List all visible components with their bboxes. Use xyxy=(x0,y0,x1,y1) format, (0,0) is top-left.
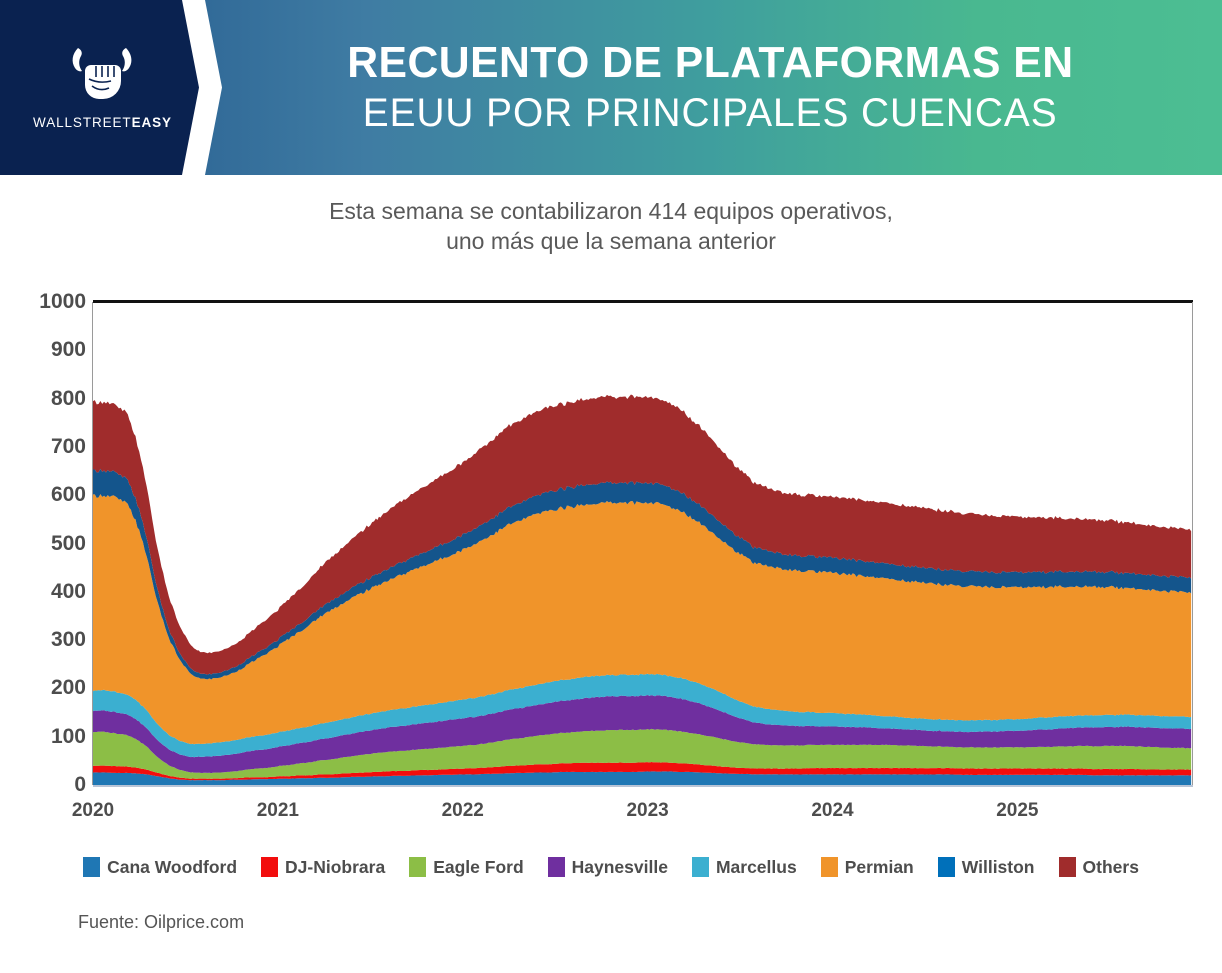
y-axis-tick-700: 700 xyxy=(2,435,86,459)
y-axis-tick-100: 100 xyxy=(2,725,86,749)
x-axis-line xyxy=(93,785,1193,787)
y-axis-tick-800: 800 xyxy=(2,387,86,411)
legend-swatch-icon xyxy=(261,857,278,877)
legend-swatch-icon xyxy=(548,857,565,877)
y-axis-tick-0: 0 xyxy=(2,773,86,797)
y-axis-tick-400: 400 xyxy=(2,580,86,604)
brand-wordmark: WALLSTREETEASY xyxy=(33,115,172,130)
page-title-line2: EEUU POR PRINCIPALES CUENCAS xyxy=(363,91,1058,135)
y-axis-tick-300: 300 xyxy=(2,628,86,652)
stacked-area-chart: 01002003004005006007008009001000 2020202… xyxy=(0,290,1222,850)
brand-wordmark-second: EASY xyxy=(132,115,172,130)
legend-item-eagle-ford[interactable]: Eagle Ford xyxy=(409,857,523,878)
chart-plot-area xyxy=(93,302,1193,785)
header-title-block: RECUENTO DE PLATAFORMAS EN EEUU POR PRIN… xyxy=(240,0,1180,175)
bull-fist-logo-icon xyxy=(65,45,141,107)
x-axis-tick-2020: 2020 xyxy=(72,800,114,822)
legend-item-dj-niobrara[interactable]: DJ-Niobrara xyxy=(261,857,385,878)
legend-swatch-icon xyxy=(83,857,100,877)
chart-subtitle-line1: Esta semana se contabilizaron 414 equipo… xyxy=(0,196,1222,226)
y-axis-tick-500: 500 xyxy=(2,532,86,556)
legend-swatch-icon xyxy=(692,857,709,877)
chart-subtitle-line2: uno más que la semana anterior xyxy=(0,226,1222,256)
y-axis-tick-1000: 1000 xyxy=(2,290,86,314)
chart-legend: Cana WoodfordDJ-NiobraraEagle FordHaynes… xyxy=(0,850,1222,884)
legend-item-others[interactable]: Others xyxy=(1059,857,1139,878)
legend-item-williston[interactable]: Williston xyxy=(938,857,1035,878)
page-header: WALLSTREETEASY RECUENTO DE PLATAFORMAS E… xyxy=(0,0,1222,175)
legend-swatch-icon xyxy=(409,857,426,877)
y-axis-tick-600: 600 xyxy=(2,483,86,507)
x-axis-tick-2025: 2025 xyxy=(996,800,1038,822)
legend-label: Marcellus xyxy=(716,857,797,878)
legend-swatch-icon xyxy=(821,857,838,877)
chart-subtitle: Esta semana se contabilizaron 414 equipo… xyxy=(0,196,1222,257)
legend-item-marcellus[interactable]: Marcellus xyxy=(692,857,797,878)
x-axis-tick-2022: 2022 xyxy=(442,800,484,822)
y-axis-ticks: 01002003004005006007008009001000 xyxy=(0,290,86,790)
x-axis-tick-2023: 2023 xyxy=(626,800,668,822)
legend-label: Eagle Ford xyxy=(433,857,523,878)
x-axis-tick-2021: 2021 xyxy=(257,800,299,822)
y-axis-tick-200: 200 xyxy=(2,676,86,700)
x-axis-tick-2024: 2024 xyxy=(811,800,853,822)
brand-wordmark-first: WALLSTREET xyxy=(33,115,132,130)
legend-swatch-icon xyxy=(938,857,955,877)
legend-label: Williston xyxy=(962,857,1035,878)
legend-item-cana-woodford[interactable]: Cana Woodford xyxy=(83,857,237,878)
page-title-line1: RECUENTO DE PLATAFORMAS EN xyxy=(347,40,1073,86)
legend-label: Others xyxy=(1083,857,1139,878)
legend-label: Permian xyxy=(845,857,914,878)
brand-logo: WALLSTREETEASY xyxy=(0,0,205,175)
y-axis-tick-900: 900 xyxy=(2,338,86,362)
legend-item-haynesville[interactable]: Haynesville xyxy=(548,857,668,878)
legend-item-permian[interactable]: Permian xyxy=(821,857,914,878)
legend-label: DJ-Niobrara xyxy=(285,857,385,878)
legend-swatch-icon xyxy=(1059,857,1076,877)
legend-label: Cana Woodford xyxy=(107,857,237,878)
legend-label: Haynesville xyxy=(572,857,668,878)
source-note: Fuente: Oilprice.com xyxy=(78,912,244,933)
